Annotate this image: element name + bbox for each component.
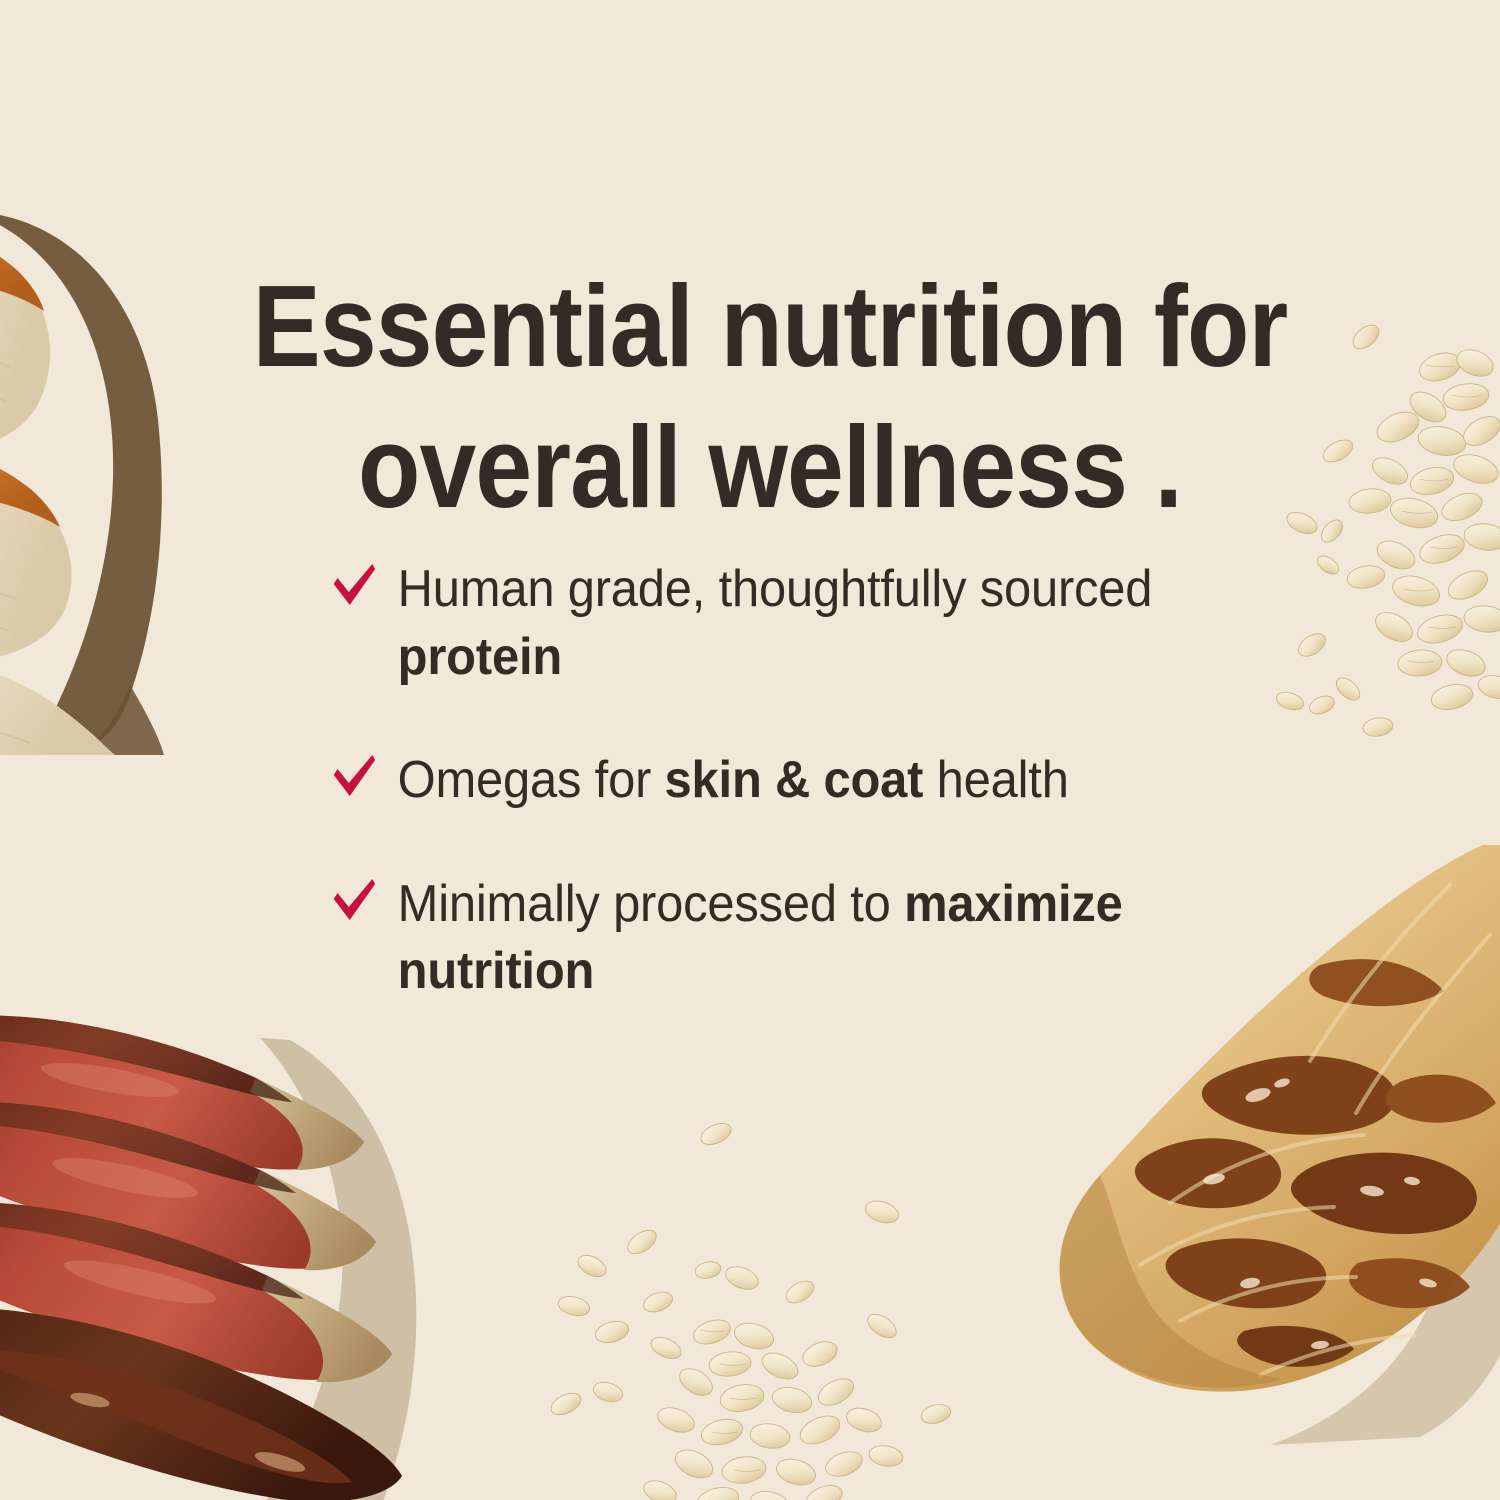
- bullet-lead: Minimally processed to: [398, 875, 904, 933]
- check-icon: [330, 753, 377, 799]
- check-icon: [330, 877, 377, 923]
- list-item: Minimally processed to maximize nutritio…: [330, 871, 1176, 1006]
- headline: Essential nutrition for overall wellness…: [233, 256, 1307, 539]
- product-feature-panel: Essential nutrition for overall wellness…: [0, 0, 1500, 1500]
- list-item: Omegas for skin & coat health: [330, 747, 1176, 815]
- sliced-beef-steak-image: [0, 1010, 480, 1500]
- list-item-text: Minimally processed to maximize nutritio…: [398, 875, 1123, 1001]
- list-item-text: Human grade, thoughtfully sourced protei…: [398, 560, 1153, 686]
- bullet-emphasis: skin & coat: [665, 751, 924, 809]
- bullet-lead: Omegas for: [398, 751, 665, 809]
- check-icon: [330, 562, 377, 608]
- bullet-emphasis: protein: [398, 628, 562, 686]
- roast-pork-slices-image: [0, 195, 240, 755]
- bullet-lead: Human grade, thoughtfully sourced: [398, 560, 1153, 618]
- scattered-oats-image: [530, 1120, 960, 1500]
- bullet-trail: health: [923, 751, 1068, 809]
- list-item: Human grade, thoughtfully sourced protei…: [330, 556, 1176, 691]
- benefits-list: Human grade, thoughtfully sourced protei…: [330, 556, 1230, 1006]
- list-item-text: Omegas for skin & coat health: [398, 751, 1069, 809]
